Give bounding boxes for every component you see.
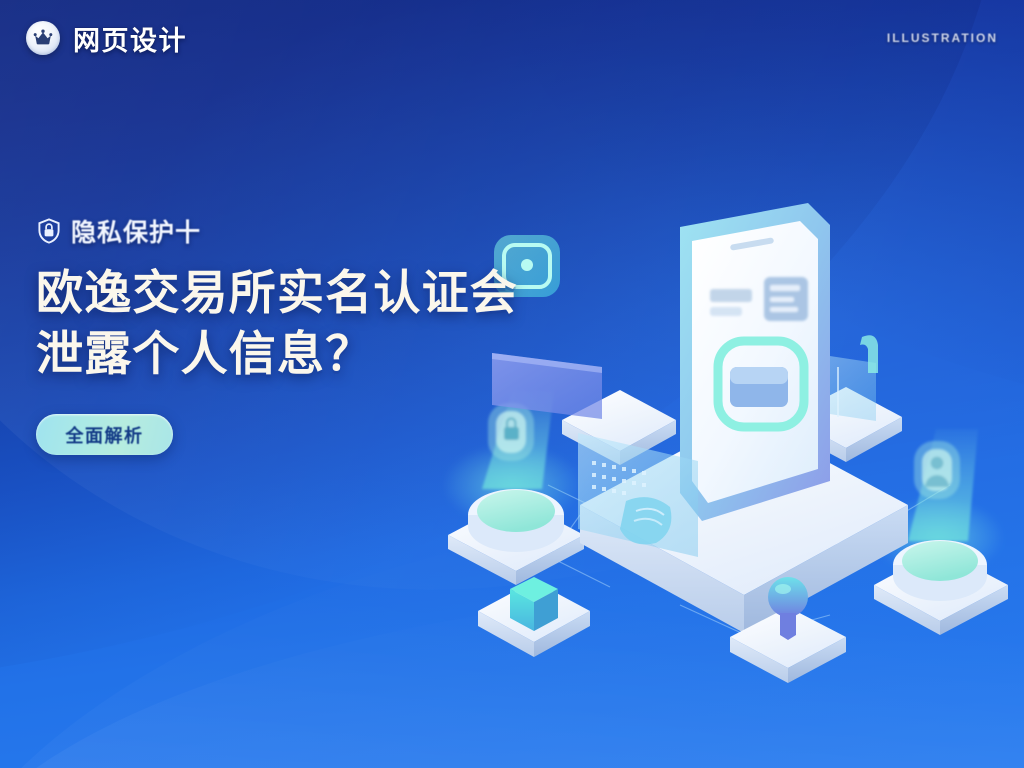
brand-logo[interactable]: 网页设计 xyxy=(26,19,187,58)
shield-lock-icon xyxy=(36,217,62,245)
eyebrow: 隐私保护十 xyxy=(36,214,556,248)
corner-watermark: ILLUSTRATION xyxy=(887,31,998,45)
brand-name: 网页设计 xyxy=(73,19,187,58)
cta-button-label: 全面解析 xyxy=(66,422,144,448)
headline-line-2: 泄露个人信息？ xyxy=(36,323,556,384)
page-header: 网页设计 ILLUSTRATION xyxy=(0,0,1024,76)
page-title: 欧逸交易所实名认证会 泄露个人信息？ xyxy=(36,262,556,384)
headline-line-1: 欧逸交易所实名认证会 xyxy=(36,262,556,323)
hero-copy: 隐私保护十 欧逸交易所实名认证会 泄露个人信息？ 全面解析 xyxy=(36,214,556,455)
smartphone-on-platform xyxy=(680,203,830,521)
small-cube-platform xyxy=(478,577,590,657)
eyebrow-label: 隐私保护十 xyxy=(71,213,201,249)
crown-badge-icon xyxy=(26,21,60,55)
hero-banner: 网页设计 ILLUSTRATION 隐私保护十 欧逸交易所实名认证会 泄露个人信… xyxy=(0,0,1024,768)
cta-button[interactable]: 全面解析 xyxy=(36,414,173,455)
